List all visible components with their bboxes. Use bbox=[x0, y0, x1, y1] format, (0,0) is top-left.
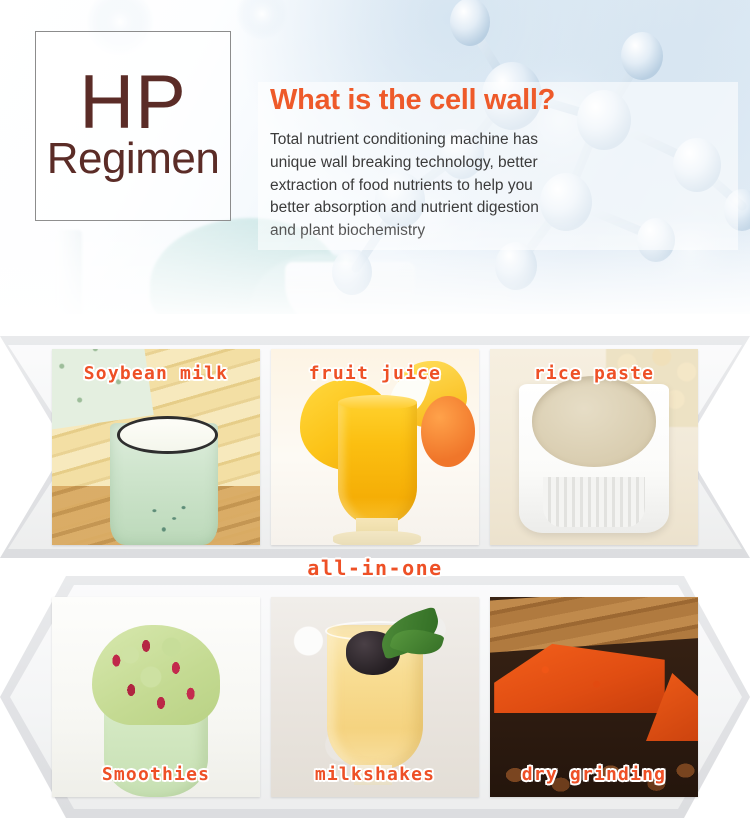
logo-line-regimen: Regimen bbox=[47, 137, 220, 182]
hero-banner: HP Regimen What is the cell wall? Total … bbox=[0, 0, 750, 314]
paragraph-line: better absorption and nutrient digestion bbox=[270, 197, 700, 220]
brand-logo-box: HP Regimen bbox=[35, 31, 231, 221]
gallery-item-smoothies[interactable]: Smoothies bbox=[52, 597, 260, 797]
gallery-row-top: Soybean milk fruit juice bbox=[0, 336, 750, 558]
cup-pattern-shape bbox=[145, 499, 193, 538]
rice-paste-surface-shape bbox=[532, 376, 657, 466]
ramekin-ridges-shape bbox=[543, 477, 645, 528]
glass-base-shape bbox=[333, 531, 420, 545]
gallery-label-milkshakes: milkshakes bbox=[271, 764, 479, 785]
cutting-board-shape bbox=[490, 597, 698, 653]
banner-copy: What is the cell wall? Total nutrient co… bbox=[270, 84, 700, 242]
gallery-item-rice-paste[interactable]: rice paste bbox=[490, 349, 698, 545]
all-in-one-label: all-in-one bbox=[0, 556, 750, 580]
gallery-item-milkshakes[interactable]: milkshakes bbox=[271, 597, 479, 797]
ceramic-cup-shape bbox=[110, 423, 218, 545]
gallery-label-soybean-milk: Soybean milk bbox=[52, 363, 260, 384]
orange-fruit-shape bbox=[421, 396, 475, 467]
lab-counter-shape bbox=[340, 256, 510, 308]
lab-bowl-shape bbox=[285, 262, 415, 314]
banner-paragraph: Total nutrient conditioning machine has … bbox=[270, 129, 700, 242]
gallery-item-dry-grinding[interactable]: dry grinding bbox=[490, 597, 698, 797]
gallery-item-soybean-milk[interactable]: Soybean milk bbox=[52, 349, 260, 545]
gloved-hand-shape-2 bbox=[250, 254, 380, 314]
gallery-panels-top: Soybean milk fruit juice bbox=[0, 336, 750, 558]
gallery-row-bottom: Smoothies milkshakes bbox=[0, 576, 750, 818]
banner-headline: What is the cell wall? bbox=[270, 84, 700, 117]
gallery-label-smoothies: Smoothies bbox=[52, 764, 260, 785]
juice-glass-shape bbox=[338, 400, 417, 525]
logo-line-hp: HP bbox=[79, 70, 187, 135]
berry-topping-shape bbox=[94, 633, 219, 725]
paragraph-line: extraction of food nutrients to help you bbox=[270, 175, 700, 198]
paragraph-line: unique wall breaking technology, better bbox=[270, 152, 700, 175]
gallery-label-rice-paste: rice paste bbox=[490, 363, 698, 384]
paragraph-line: and plant biochemistry bbox=[270, 220, 700, 243]
gallery-label-fruit-juice: fruit juice bbox=[271, 363, 479, 384]
gallery-item-fruit-juice[interactable]: fruit juice bbox=[271, 349, 479, 545]
test-tube-shape bbox=[56, 230, 82, 314]
gallery-label-dry-grinding: dry grinding bbox=[490, 764, 698, 785]
gallery-panels-bottom: Smoothies milkshakes bbox=[0, 576, 750, 818]
product-uses-gallery: Soybean milk fruit juice bbox=[0, 318, 750, 818]
paragraph-line: Total nutrient conditioning machine has bbox=[270, 129, 700, 152]
